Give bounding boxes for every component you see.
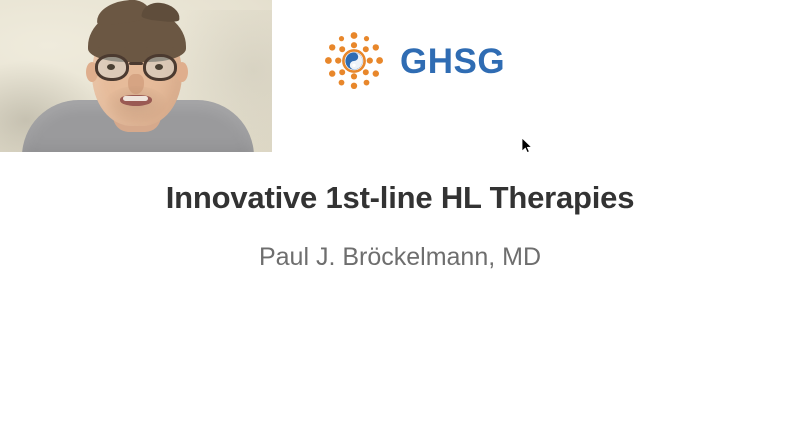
speaker-nose — [128, 74, 144, 94]
speaker-eyebrow-right — [146, 47, 174, 52]
ghsg-wordmark: GHSG — [400, 44, 505, 79]
slide-title: Innovative 1st-line HL Therapies — [0, 180, 800, 216]
speaker-webcam-feed[interactable] — [0, 0, 272, 152]
ghsg-logo: GHSG — [322, 26, 522, 96]
speaker-eyebrow-left — [98, 47, 126, 52]
speaker-ear-right — [176, 62, 188, 82]
mouse-pointer-icon — [521, 137, 533, 155]
slide-subtitle-presenter: Paul J. Bröckelmann, MD — [0, 243, 800, 272]
ghsg-sunburst-icon — [322, 29, 386, 93]
speaker-teeth — [123, 96, 148, 101]
speaker-eye-right — [155, 64, 163, 70]
glasses-bridge-icon — [129, 62, 143, 65]
footer-logo-row: CI Center for Integrated Oncology Aachen… — [0, 355, 800, 425]
speaker-eye-left — [107, 64, 115, 70]
presentation-screen: GHSG Innovative 1st-line HL Therapies Pa… — [0, 0, 800, 425]
